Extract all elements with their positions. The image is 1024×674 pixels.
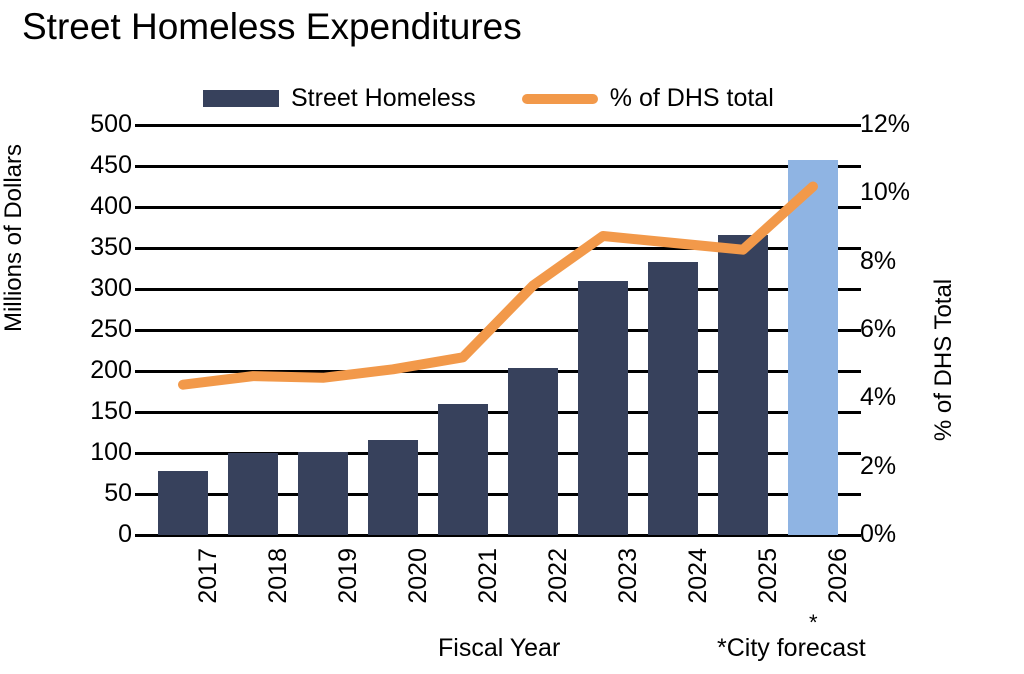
x-tick-label-2026: 2026 [826,548,851,604]
legend-label-street-homeless: Street Homeless [291,86,476,111]
x-tick-label-2021: 2021 [476,548,501,604]
plot-area [148,125,848,535]
x-axis-title: Fiscal Year [438,634,560,663]
y-tick-right [848,165,861,168]
y-tick-label-right: 4% [860,385,896,410]
x-tick-label-2022: 2022 [546,548,571,604]
y-axis-title-right: % of DHS Total [930,279,958,441]
y-tick-left [135,411,148,414]
y-tick-label-right: 2% [860,454,896,479]
y-tick-left [135,534,148,537]
y-tick-label-left: 150 [40,399,132,424]
y-tick-label-right: 0% [860,522,896,547]
legend-item-street-homeless[interactable]: Street Homeless [203,86,476,111]
forecast-star: * [809,612,818,634]
x-tick-label-2025: 2025 [756,548,781,604]
x-tick-label-2023: 2023 [616,548,641,604]
y-tick-label-left: 500 [40,112,132,137]
y-tick-left [135,370,148,373]
y-tick-label-left: 250 [40,317,132,342]
legend-bar-swatch-icon [203,90,279,107]
x-tick-label-2019: 2019 [336,548,361,604]
y-tick-label-right: 6% [860,317,896,342]
line-series [148,125,848,535]
legend-line-swatch-icon [522,94,598,104]
x-tick-label-2018: 2018 [266,548,291,604]
x-tick-label-2017: 2017 [196,548,221,604]
y-tick-label-left: 400 [40,194,132,219]
y-tick-left [135,165,148,168]
y-tick-left [135,247,148,250]
y-tick-label-left: 450 [40,153,132,178]
x-tick-label-2024: 2024 [686,548,711,604]
y-tick-left [135,493,148,496]
chart-container: Street Homeless Expenditures Street Home… [0,0,1024,674]
chart-legend: Street Homeless % of DHS total [203,86,774,111]
y-tick-label-left: 0 [40,522,132,547]
y-tick-label-right: 10% [860,180,910,205]
y-tick-label-right: 8% [860,249,896,274]
forecast-note: *City forecast [717,634,866,663]
legend-item-pct-dhs-total[interactable]: % of DHS total [522,86,774,111]
y-tick-left [135,329,148,332]
legend-label-pct-dhs-total: % of DHS total [610,86,774,111]
y-tick-label-left: 300 [40,276,132,301]
y-tick-right [848,370,861,373]
y-tick-label-left: 100 [40,440,132,465]
y-axis-title-left: Millions of Dollars [0,144,28,332]
y-tick-left [135,288,148,291]
x-tick-label-2020: 2020 [406,548,431,604]
y-tick-left [135,452,148,455]
y-tick-right [848,288,861,291]
y-tick-label-left: 200 [40,358,132,383]
y-tick-right [848,493,861,496]
y-tick-label-right: 12% [860,112,910,137]
line-pct-dhs-total[interactable] [183,187,813,385]
y-tick-left [135,124,148,127]
page-title: Street Homeless Expenditures [22,6,522,48]
y-tick-left [135,206,148,209]
y-tick-label-left: 350 [40,235,132,260]
y-tick-label-left: 50 [40,481,132,506]
